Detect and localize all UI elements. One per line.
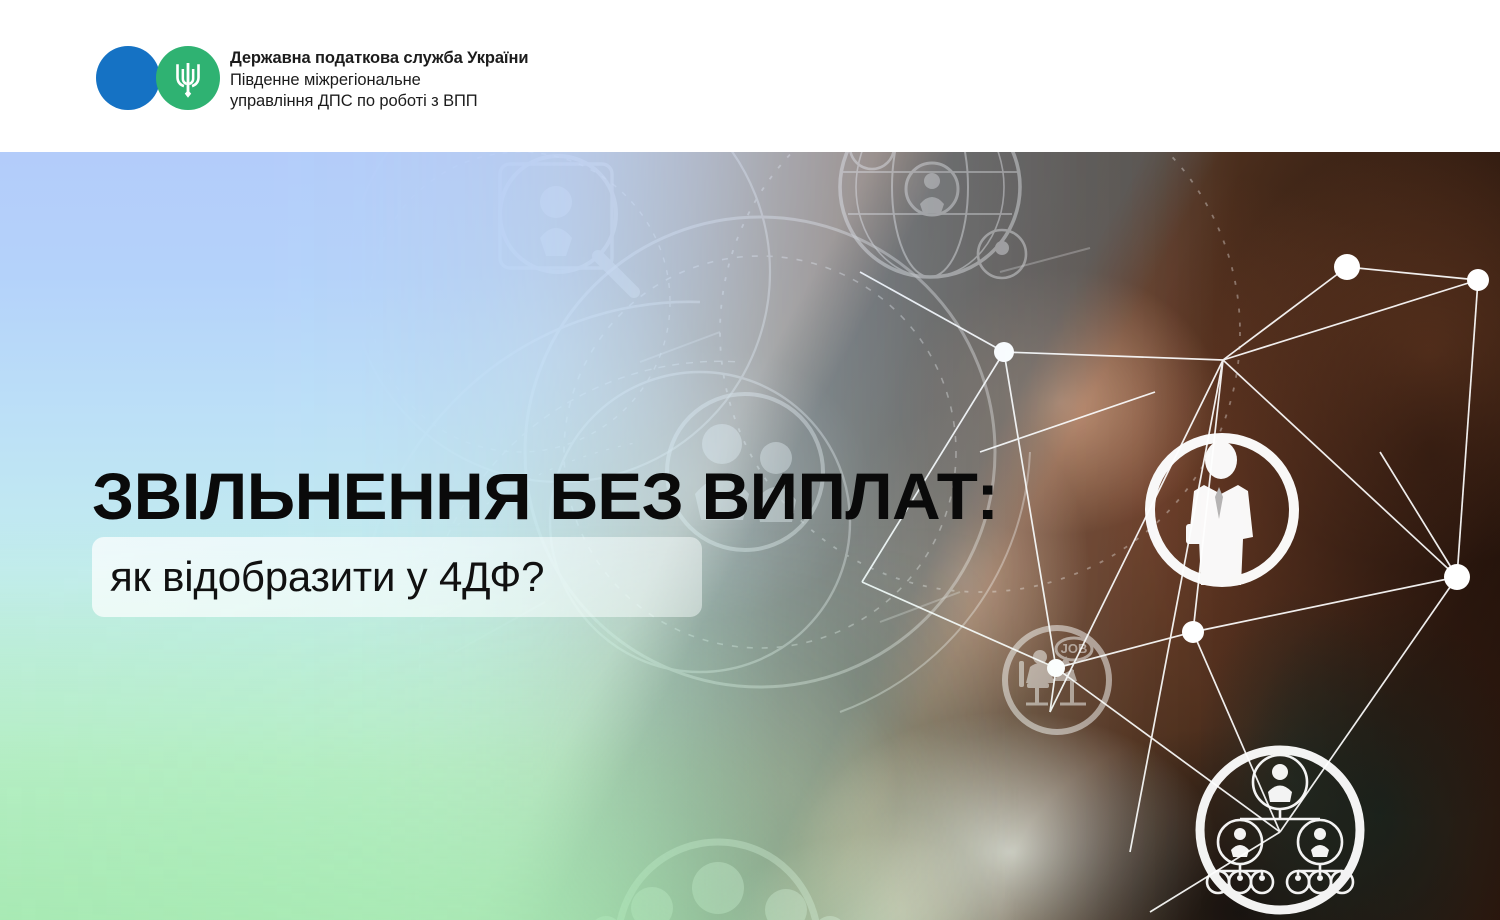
org-line-2: Південне міжрегіональне: [230, 70, 528, 92]
site-header: Державна податкова служба України Півден…: [0, 0, 1500, 152]
ukraine-trident-icon: [172, 60, 204, 98]
blue-circle-icon: [96, 46, 160, 110]
logo-marks: [96, 46, 224, 110]
org-line-1: Державна податкова служба України: [230, 48, 528, 70]
hero-copy: ЗВІЛЬНЕННЯ БЕЗ ВИПЛАТ: як відобразити у …: [0, 152, 1500, 920]
org-line-3: управління ДПС по роботі з ВПП: [230, 91, 528, 113]
poster-page: Державна податкова служба України Півден…: [0, 0, 1500, 920]
subtitle-panel: як відобразити у 4ДФ?: [92, 537, 702, 617]
logo-lockup[interactable]: Державна податкова служба України Півден…: [96, 46, 528, 113]
page-title: ЗВІЛЬНЕННЯ БЕЗ ВИПЛАТ:: [92, 460, 998, 532]
hero-banner: JOB: [0, 152, 1500, 920]
page-subtitle: як відобразити у 4ДФ?: [92, 553, 544, 601]
organization-name: Державна податкова служба України Півден…: [230, 46, 528, 113]
